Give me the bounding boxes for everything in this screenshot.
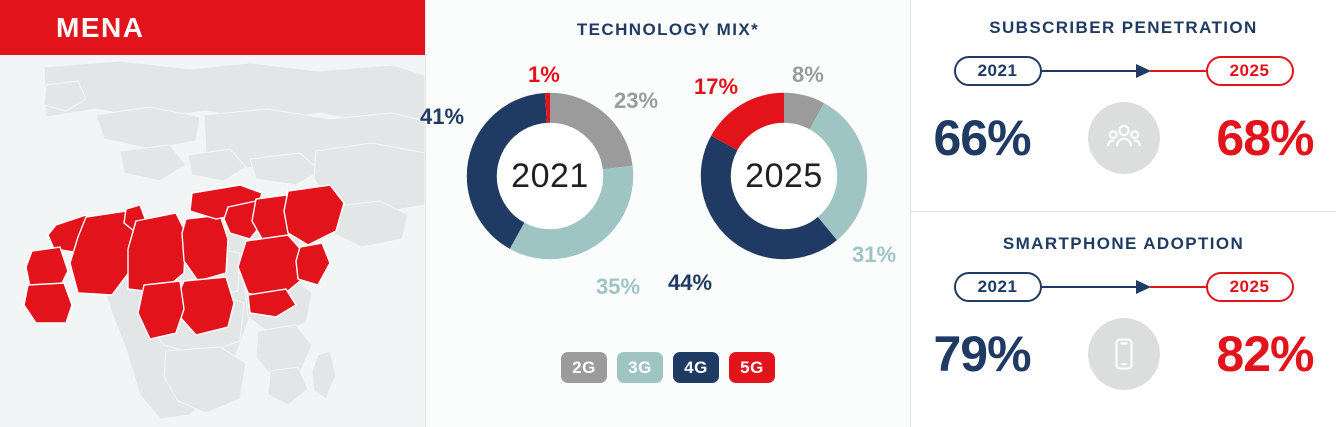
technology-mix-title: TECHNOLOGY MIX* [426,0,910,40]
donut-2025-label-3g: 31% [852,242,896,268]
mena-region-infographic: MENA [0,0,1336,427]
donut-chart-2021: 2021 1% 23% 35% 41% [432,66,664,336]
subscriber-end-value: 68% [1216,113,1313,163]
subscriber-end-year-label: 2025 [1230,61,1270,81]
smartphone-end-year-pill[interactable]: 2025 [1206,272,1294,302]
people-group-icon [1104,118,1144,158]
smartphone-track-line-end [1150,286,1206,288]
subscriber-start-year-pill[interactable]: 2021 [954,56,1042,86]
legend-pill-4g[interactable]: 4G [673,352,719,383]
subscriber-penetration-title: SUBSCRIBER PENETRATION [911,0,1336,38]
subscriber-track-line-start [1042,70,1138,72]
donut-2021-label-5g: 1% [528,62,560,88]
region-banner: MENA [0,0,425,55]
donut-2025-label-4g: 44% [668,270,712,296]
map-panel: MENA [0,0,425,427]
legend-label-5g: 5G [740,358,764,378]
subscriber-start-value: 66% [934,113,1031,163]
smartphone-values-row: 79% 82% [934,308,1314,400]
legend-label-4g: 4G [684,358,708,378]
smartphone-icon [1104,334,1144,374]
donut-2025-year-label: 2025 [694,86,874,266]
region-map [0,55,425,427]
smartphone-adoption-title: SMARTPHONE ADOPTION [911,212,1336,254]
legend-pill-5g[interactable]: 5G [729,352,775,383]
donut-2021-label-2g: 23% [614,88,658,114]
subscriber-values-row: 66% 68% [934,92,1314,184]
smartphone-end-year-label: 2025 [1230,277,1270,297]
smartphone-adoption-panel: SMARTPHONE ADOPTION 2021 2025 79% [911,212,1336,427]
donut-2025-label-5g: 17% [694,74,738,100]
region-name-label: MENA [0,12,144,44]
legend-label-2g: 2G [572,358,596,378]
subscriber-year-track: 2021 2025 [954,56,1294,86]
smartphone-end-value: 82% [1216,329,1313,379]
smartphone-track-line-start [1042,286,1138,288]
kpi-panel-divider [911,211,1336,212]
legend-pill-3g[interactable]: 3G [617,352,663,383]
donut-chart-2025: 2025 8% 17% 31% 44% [666,66,898,336]
subscriber-penetration-panel: SUBSCRIBER PENETRATION 2021 2025 66% [911,0,1336,211]
world-map-svg [0,55,425,427]
donut-2021-label-3g: 35% [596,274,640,300]
subscriber-end-year-pill[interactable]: 2025 [1206,56,1294,86]
subscriber-arrow-icon [1136,64,1151,78]
subscriber-track-line-end [1150,70,1206,72]
kpi-column: SUBSCRIBER PENETRATION 2021 2025 66% [911,0,1336,427]
donut-chart-row: 2021 1% 23% 35% 41% 2025 8% 17% [426,66,910,336]
smartphone-year-track: 2021 2025 [954,272,1294,302]
technology-mix-panel: TECHNOLOGY MIX* 2021 1% 23% 35% 41% [426,0,910,427]
donut-2025-label-2g: 8% [792,62,824,88]
smartphone-arrow-icon [1136,280,1151,294]
smartphone-start-value: 79% [934,329,1031,379]
subscriber-icon-badge [1088,102,1160,174]
smartphone-icon-badge [1088,318,1160,390]
smartphone-start-year-pill[interactable]: 2021 [954,272,1042,302]
legend-label-3g: 3G [628,358,652,378]
donut-2021-label-4g: 41% [420,104,464,130]
technology-legend: 2G 3G 4G 5G [426,352,910,383]
legend-pill-2g[interactable]: 2G [561,352,607,383]
smartphone-start-year-label: 2021 [978,277,1018,297]
donut-2021-year-label: 2021 [460,86,640,266]
subscriber-start-year-label: 2021 [978,61,1018,81]
